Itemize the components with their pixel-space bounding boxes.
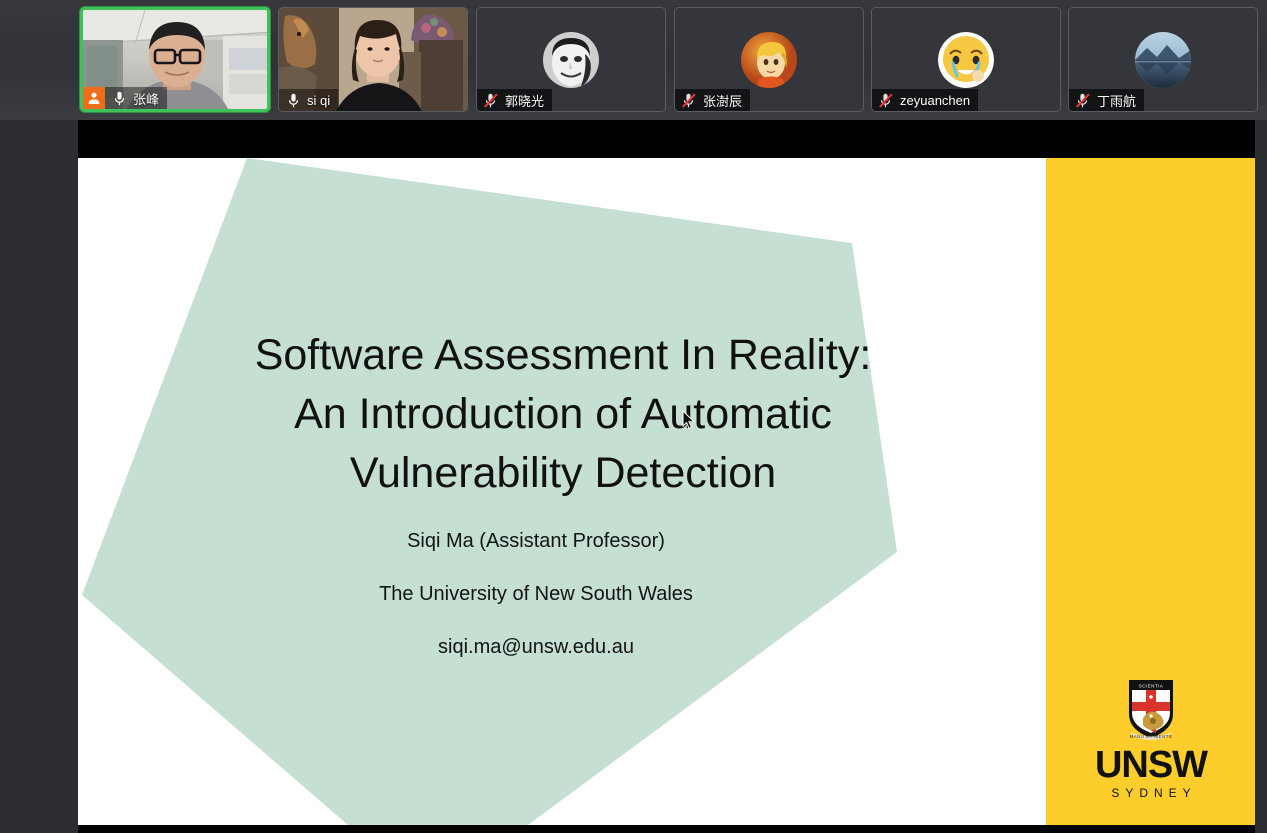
- participant-name-3: 张澍辰: [703, 91, 742, 110]
- participant-name-1: si qi: [307, 93, 330, 108]
- letterbox-top: [78, 120, 1255, 158]
- unsw-logo: SCIENTIA MANU ET MENTE UNSW SYDNEY: [1075, 678, 1227, 800]
- slide-presenter: Siqi Ma (Assistant Professor): [116, 530, 956, 553]
- unsw-crest-icon: SCIENTIA MANU ET MENTE: [1125, 678, 1177, 740]
- participant-tile-1[interactable]: si qi: [278, 7, 468, 112]
- participant-name-2: 郭晓光: [505, 91, 544, 110]
- presentation-slide[interactable]: Software Assessment In Reality: An Intro…: [78, 158, 1255, 825]
- microphone-muted-icon: [1073, 93, 1093, 108]
- avatar-image-4: [938, 32, 994, 88]
- unsw-subtitle: SYDNEY: [1075, 786, 1227, 800]
- shared-screen-stage: Software Assessment In Reality: An Intro…: [0, 120, 1267, 833]
- participant-tile-4[interactable]: zeyuanchen: [871, 7, 1061, 112]
- microphone-icon: [109, 91, 129, 106]
- participant-name-5: 丁雨航: [1097, 91, 1136, 110]
- participant-nameplate-1: si qi: [279, 89, 338, 111]
- participant-nameplate-3: 张澍辰: [675, 89, 750, 111]
- svg-text:MANU ET MENTE: MANU ET MENTE: [1130, 734, 1173, 739]
- participant-tile-0[interactable]: 张峰: [80, 7, 270, 112]
- participant-nameplate-0: 张峰: [83, 87, 167, 109]
- avatar-image-3: [741, 32, 797, 88]
- avatar-image-2: [543, 32, 599, 88]
- participant-nameplate-2: 郭晓光: [477, 89, 552, 111]
- slide-title: Software Assessment In Reality: An Intro…: [138, 326, 988, 503]
- participant-tile-2[interactable]: 郭晓光: [476, 7, 666, 112]
- participant-tile-5[interactable]: 丁雨航: [1068, 7, 1258, 112]
- microphone-icon: [283, 93, 303, 108]
- participant-filmstrip: 张峰: [0, 0, 1267, 120]
- slide-title-line-2: An Introduction of Automatic: [138, 385, 988, 444]
- participant-nameplate-4: zeyuanchen: [872, 89, 978, 111]
- avatar-image-5: [1135, 32, 1191, 88]
- host-person-icon: [83, 87, 105, 109]
- slide-title-line-3: Vulnerability Detection: [138, 444, 988, 503]
- microphone-muted-icon: [481, 93, 501, 108]
- letterbox-bottom: [78, 825, 1255, 833]
- slide-email: siqi.ma@unsw.edu.au: [116, 636, 956, 659]
- slide-title-line-1: Software Assessment In Reality:: [138, 326, 988, 385]
- microphone-muted-icon: [876, 93, 896, 108]
- unsw-wordmark: UNSW: [1075, 746, 1227, 784]
- slide-affiliation: The University of New South Wales: [116, 583, 956, 606]
- participant-name-0: 张峰: [133, 89, 159, 108]
- microphone-muted-icon: [679, 93, 699, 108]
- participant-tile-3[interactable]: 张澍辰: [674, 7, 864, 112]
- participant-name-4: zeyuanchen: [900, 93, 970, 108]
- svg-text:SCIENTIA: SCIENTIA: [1139, 684, 1164, 689]
- screen-share-window: 张峰: [0, 0, 1267, 833]
- participant-nameplate-5: 丁雨航: [1069, 89, 1144, 111]
